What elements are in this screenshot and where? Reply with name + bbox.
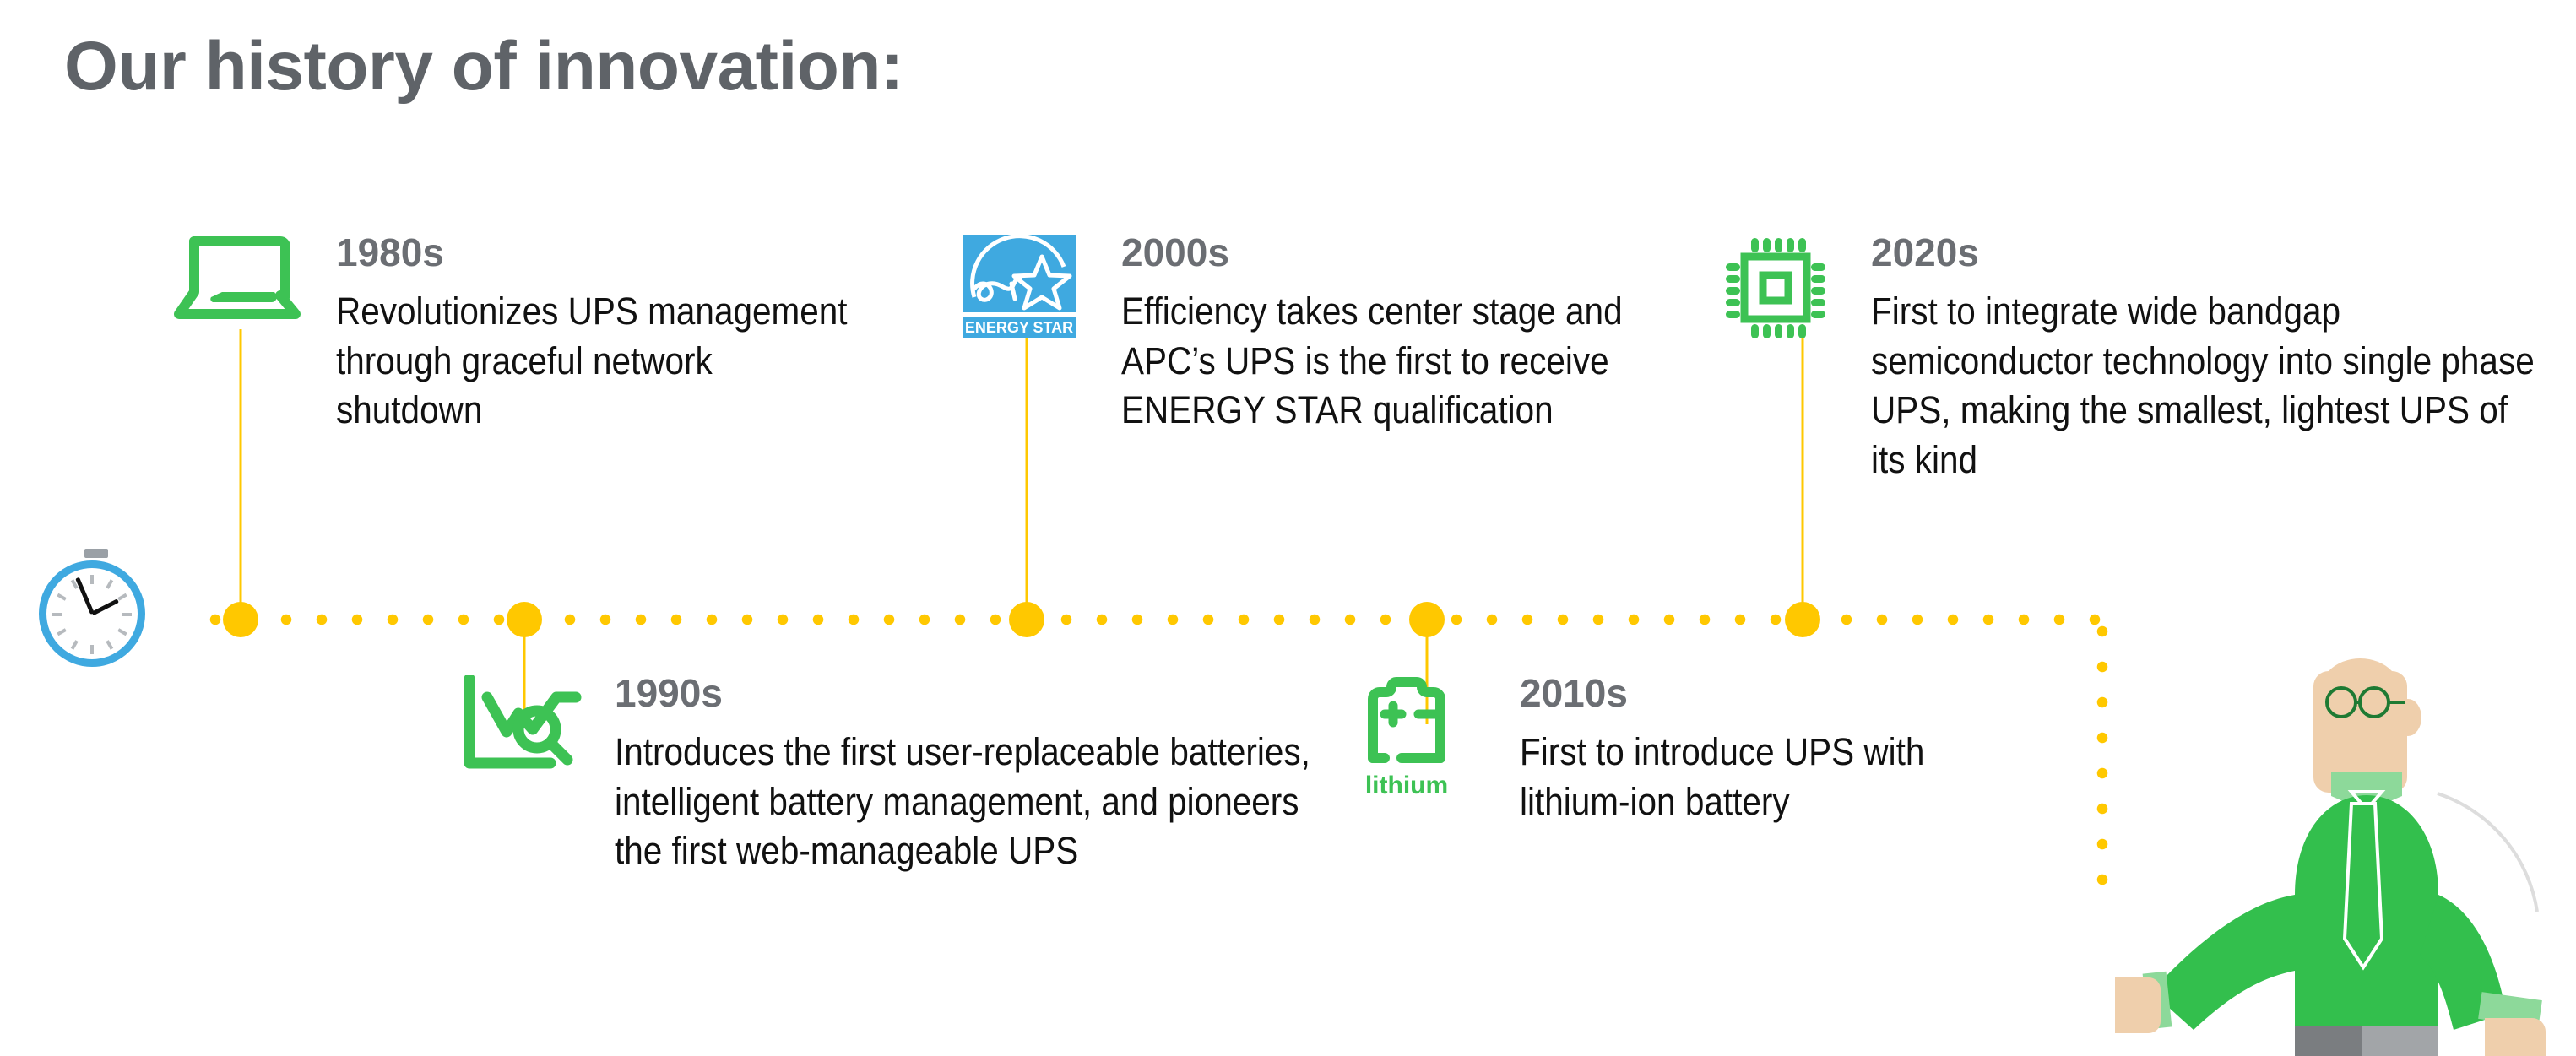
entry-year-label: 2010s	[1520, 674, 1993, 712]
entry-year-label: 2020s	[1871, 233, 2538, 272]
clock-hour-hand	[91, 598, 119, 615]
energy-star-icon: ENERGY STAR	[961, 235, 1086, 342]
entry-body-text: Introduces the first user-replaceable ba…	[615, 728, 1321, 876]
cpu-chip-icon	[1719, 236, 1830, 347]
illustration-man-icon	[2115, 642, 2576, 1056]
connector-2020s	[1802, 338, 1804, 623]
clock-face	[39, 560, 145, 667]
energy-star-label: ENERGY STAR	[965, 319, 1073, 336]
clock-button	[84, 549, 108, 558]
lithium-battery-icon: lithium	[1354, 675, 1483, 806]
timeline-axis-vertical	[2096, 625, 2108, 897]
entry-1980s: 1980s Revolutionizes UPS management thro…	[336, 233, 876, 436]
entry-2010s: 2010s First to introduce UPS with lithiu…	[1520, 674, 1993, 826]
entry-year-label: 1980s	[336, 233, 876, 272]
connector-2000s	[1026, 338, 1028, 623]
entry-body-text: Revolutionizes UPS management through gr…	[336, 287, 868, 436]
connector-1980s	[240, 329, 242, 623]
entry-1990s: 1990s Introduces the first user-replacea…	[615, 674, 1324, 876]
clock-icon	[39, 549, 152, 675]
chart-magnifier-icon	[458, 675, 584, 785]
page-title: Our history of innovation:	[64, 27, 903, 106]
entry-year-label: 1990s	[615, 674, 1324, 712]
lithium-label: lithium	[1365, 772, 1448, 799]
entry-body-text: First to integrate wide bandgap semicond…	[1871, 287, 2540, 485]
entry-year-label: 2000s	[1121, 233, 1645, 272]
entry-body-text: First to introduce UPS with lithium-ion …	[1520, 728, 1991, 826]
laptop-icon	[174, 235, 301, 332]
timeline-axis-horizontal	[209, 614, 2107, 625]
entry-body-text: Efficiency takes center stage and APC’s …	[1121, 287, 1638, 436]
infographic-canvas: Our history of innovation:	[0, 0, 2576, 1056]
entry-2000s: 2000s Efficiency takes center stage and …	[1121, 233, 1645, 436]
entry-2020s: 2020s First to integrate wide bandgap se…	[1871, 233, 2538, 485]
